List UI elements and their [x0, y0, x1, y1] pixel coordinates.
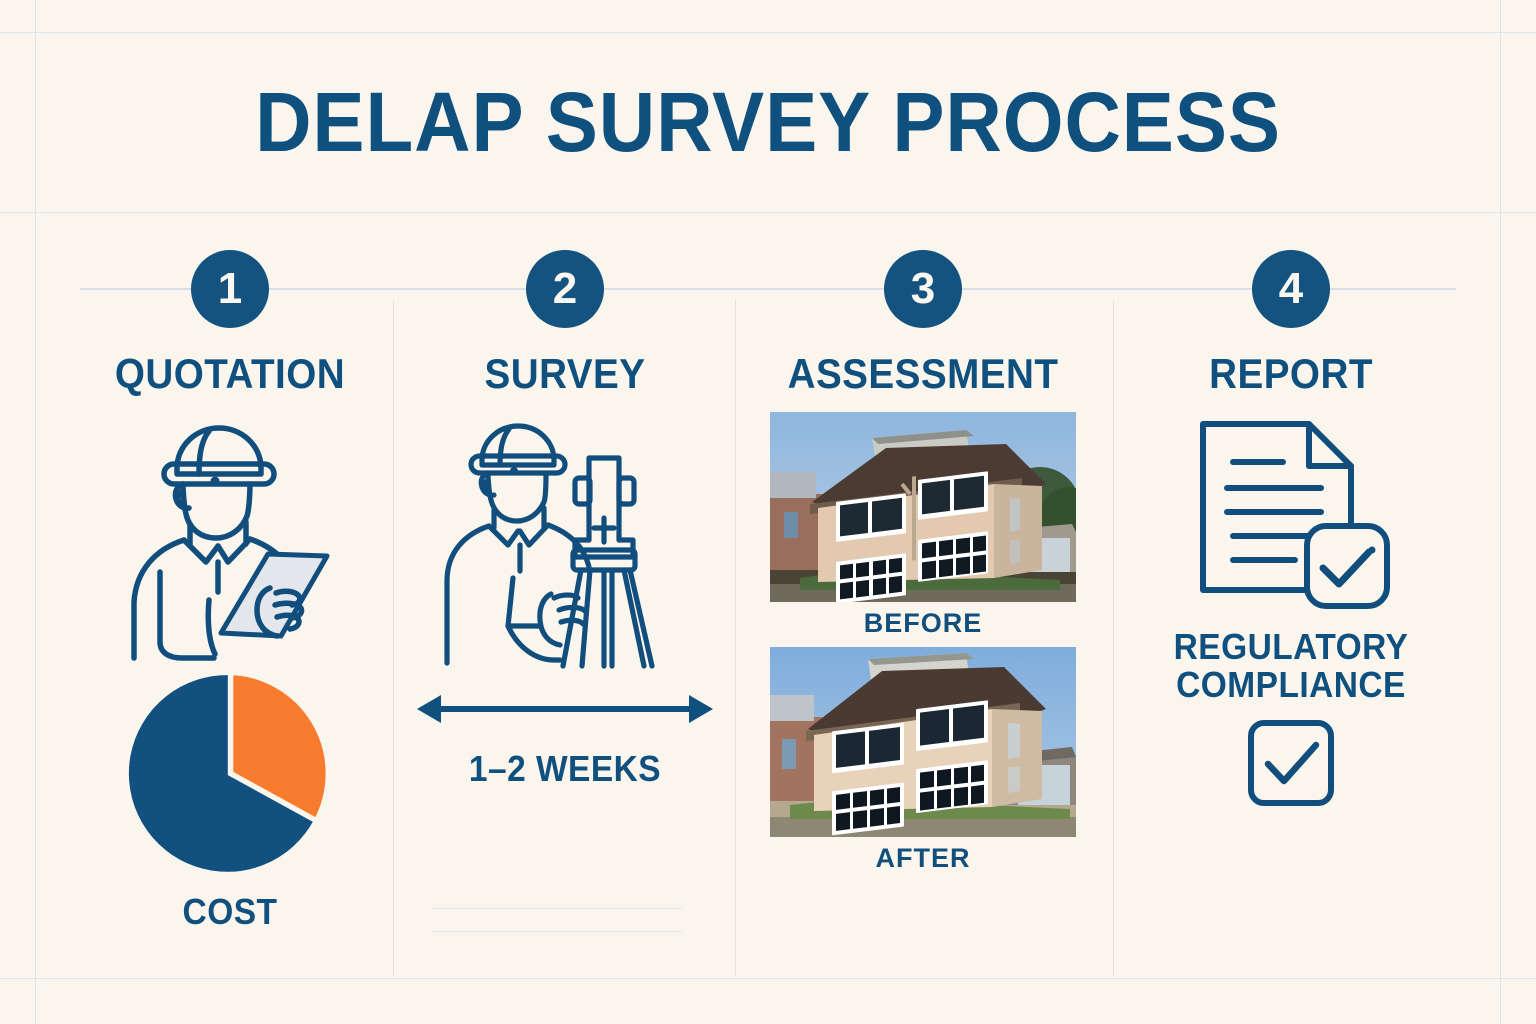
step-badge-1-number: 1	[218, 264, 242, 314]
grid-line-horizontal-top	[0, 32, 1536, 33]
step-badge-4: 4	[1252, 250, 1330, 328]
column-divider-3	[1113, 300, 1114, 976]
infographic-canvas: DELAP SURVEY PROCESS 1 QUOTATION	[0, 0, 1536, 1024]
step-badge-4-number: 4	[1279, 264, 1303, 314]
assessment-photo-after	[770, 647, 1076, 837]
photo-caption-after: AFTER	[752, 843, 1094, 874]
grid-line-horizontal-bottom	[0, 978, 1536, 979]
worker-with-clipboard-icon	[105, 412, 355, 662]
step-title-quotation: QUOTATION	[92, 350, 368, 398]
step-badge-1: 1	[191, 250, 269, 328]
step-badge-3: 3	[884, 250, 962, 328]
column-divider-1	[393, 300, 394, 976]
step-badge-2-number: 2	[553, 264, 577, 314]
step-column-survey[interactable]: 2 SURVEY	[410, 250, 720, 790]
page-title: DELAP SURVEY PROCESS	[54, 74, 1482, 171]
compliance-label-line1: REGULATORY	[1151, 628, 1432, 666]
cost-label: COST	[91, 891, 370, 933]
assessment-photo-before	[770, 412, 1076, 602]
ruled-line-1	[432, 908, 682, 909]
step-column-assessment[interactable]: 3 ASSESSMENT	[752, 250, 1094, 874]
step-badge-2: 2	[526, 250, 604, 328]
step-column-report[interactable]: 4 REPORT REGULATORY COMPLIANCE	[1140, 250, 1442, 808]
duration-label: 1–2 WEEKS	[421, 748, 709, 790]
grid-line-vertical-left	[35, 0, 36, 1024]
step-title-survey: SURVEY	[422, 350, 707, 398]
document-with-check-icon	[1189, 412, 1394, 612]
step-title-report: REPORT	[1152, 350, 1430, 398]
checkbox-checked-icon	[1246, 718, 1336, 808]
step-column-quotation[interactable]: 1 QUOTATION	[80, 250, 380, 933]
step-title-assessment: ASSESSMENT	[766, 350, 1081, 398]
grid-line-horizontal-upper	[0, 212, 1536, 213]
photo-caption-before: BEFORE	[752, 608, 1094, 639]
grid-line-vertical-right	[1500, 0, 1501, 1024]
step-badge-3-number: 3	[911, 264, 935, 314]
cost-pie-chart	[123, 666, 338, 881]
column-divider-2	[735, 300, 736, 976]
surveyor-with-theodolite-icon	[434, 410, 696, 670]
double-headed-arrow-icon	[415, 686, 715, 732]
ruled-line-2	[432, 931, 682, 932]
compliance-label-line2: COMPLIANCE	[1151, 666, 1432, 704]
